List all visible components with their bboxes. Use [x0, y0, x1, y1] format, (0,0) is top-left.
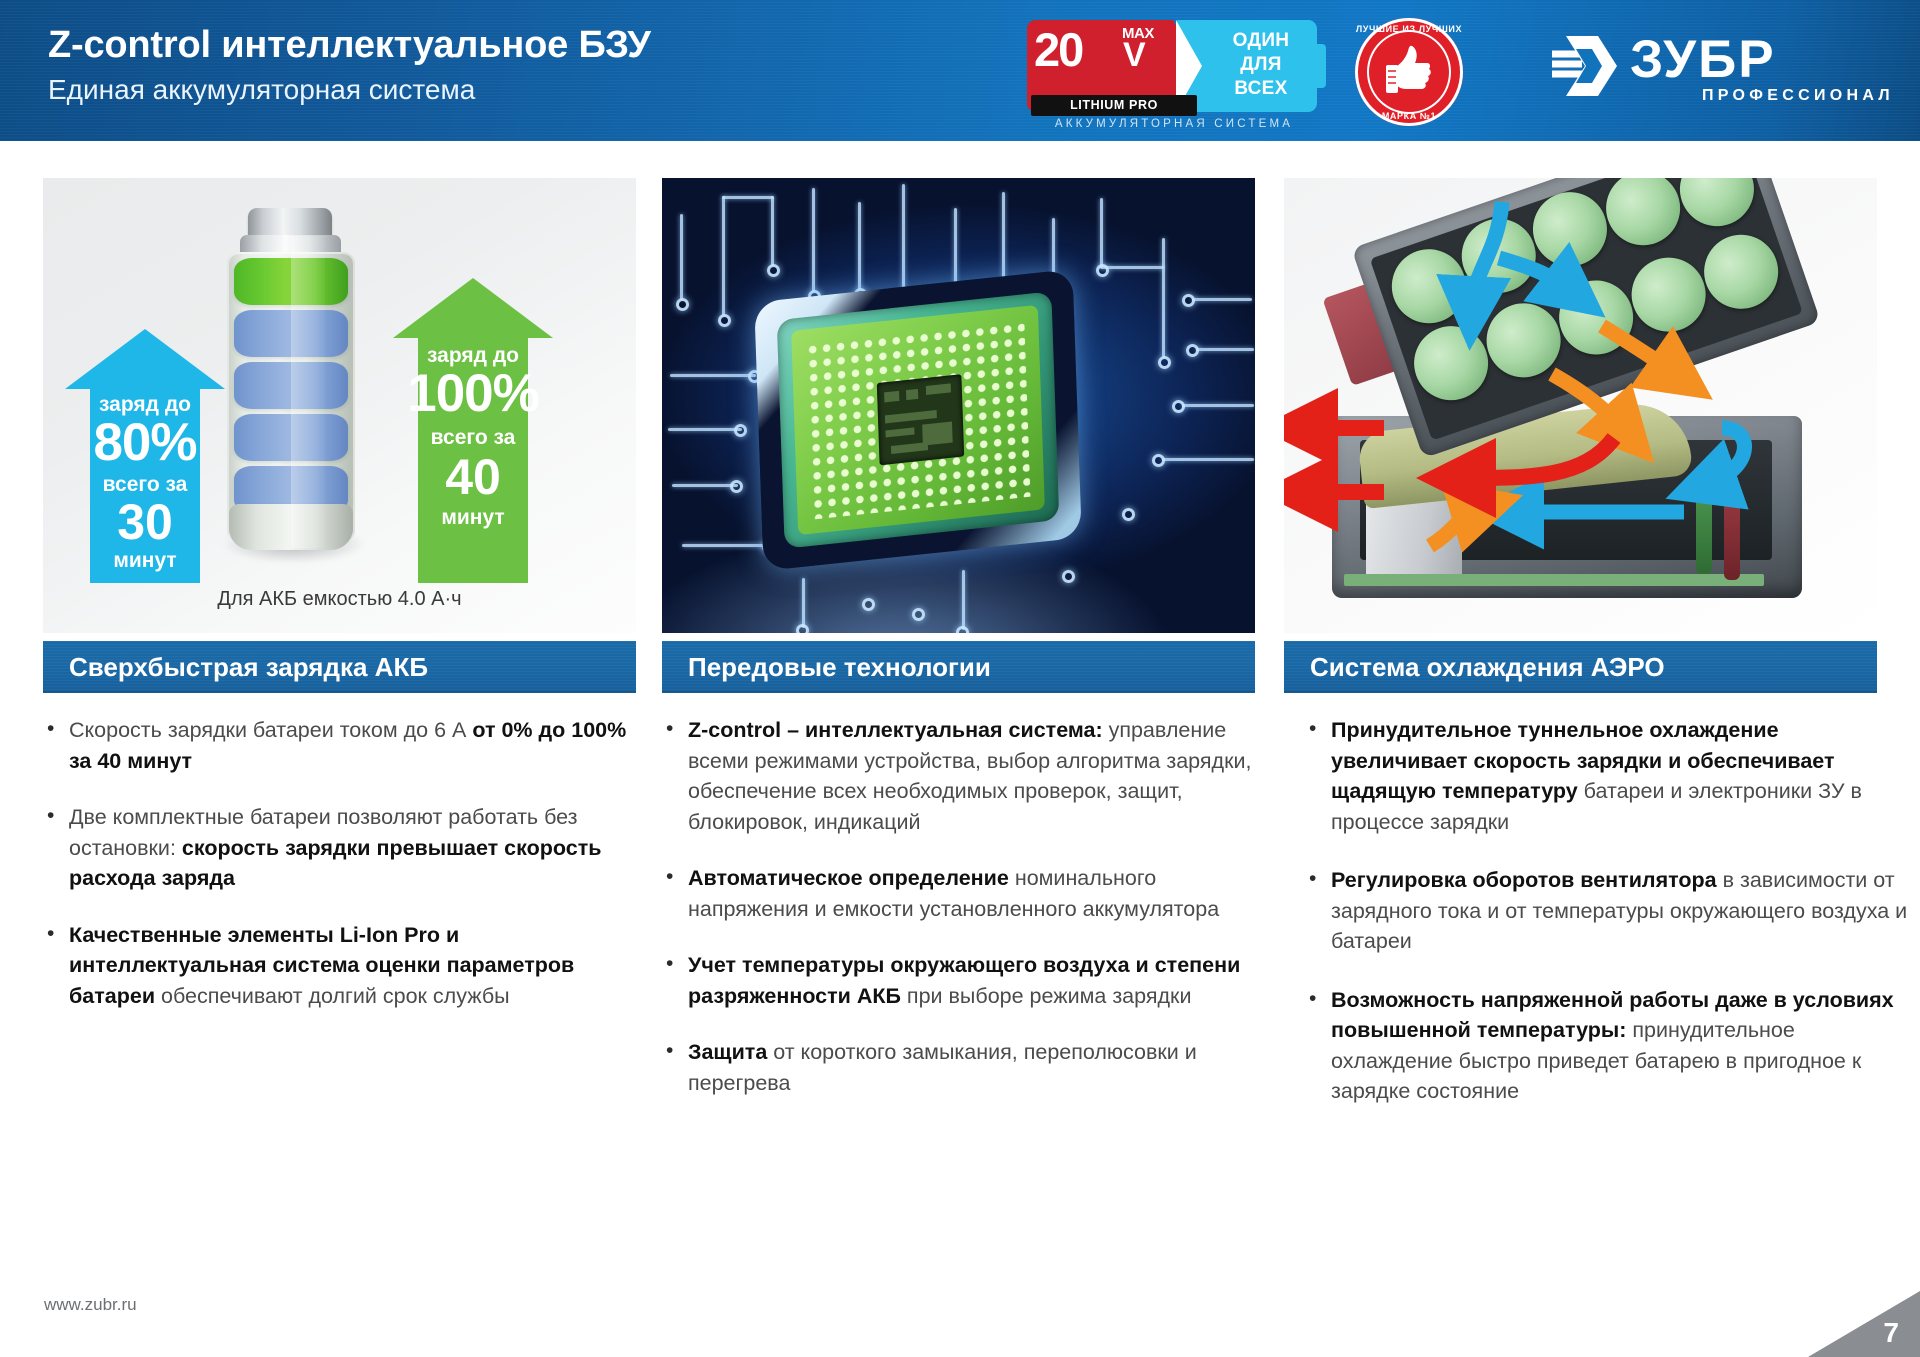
pcb-pad [1122, 508, 1135, 521]
page-number-corner: 7 [1808, 1291, 1920, 1357]
pcb-pad [1186, 344, 1199, 357]
zubr-brand-name: ЗУБР [1630, 31, 1776, 89]
pcb-pad [1172, 400, 1185, 413]
pcb-trace [1162, 238, 1165, 358]
feature-bullet: Качественные элементы Li-Ion Pro и интел… [43, 920, 639, 1012]
battery-base [229, 504, 353, 550]
one-for-all-line-1: ОДИН [1207, 29, 1315, 53]
footer-website-url[interactable]: www.zubr.ru [44, 1295, 137, 1315]
pcb-trace [858, 202, 861, 290]
pcb-pad [718, 314, 731, 327]
arrow-100-line3: всего за [393, 424, 553, 451]
section-bar-fast-charging: Сверхбыстрая зарядка АКБ [43, 641, 636, 693]
best-of-best-seal: ЛУЧШИЕ ИЗ ЛУЧШИХ МАРКА №1 [1355, 18, 1463, 126]
bullet-text-bold: Автоматическое определение [688, 866, 1009, 890]
bullet-text: при выборе режима зарядки [901, 984, 1192, 1008]
badge-volt-label: V [1123, 38, 1146, 72]
arrow-100-minutes: 40 [393, 450, 553, 504]
section-bar-technologies: Передовые технологии [662, 641, 1255, 693]
page-number: 7 [1883, 1319, 1899, 1347]
pcb-pad [1096, 264, 1109, 277]
battery-illustration [211, 208, 371, 583]
section-title-3: Система охлаждения АЭРО [1310, 641, 1665, 693]
bullet-text-bold: Z-control – интеллектуальная система: [688, 718, 1103, 742]
badge-voltage-number: 20 [1034, 24, 1082, 76]
pcb-pad [767, 264, 780, 277]
feature-columns: Скорость зарядки батареи током до 6 А от… [43, 715, 1877, 1275]
thumbs-up-icon [1386, 45, 1432, 99]
one-for-all-line-2: ДЛЯ [1207, 53, 1315, 77]
pcb-trace [668, 428, 742, 431]
battery-segment [234, 414, 348, 461]
pcb-pad [1062, 570, 1075, 583]
pcb-trace [812, 188, 815, 292]
page-subtitle: Единая аккумуляторная система [48, 72, 651, 108]
pcb-pad [862, 598, 875, 611]
zubr-arrow-mark-icon [1552, 35, 1618, 97]
feature-bullet: Автоматическое определение номинального … [662, 863, 1280, 924]
chip-die [791, 305, 1045, 535]
pcb-trace [1100, 198, 1103, 268]
arrow-100-line5: минут [393, 504, 553, 532]
chip-technology-panel [662, 178, 1255, 633]
badge-one-for-all-text: ОДИН ДЛЯ ВСЕХ [1207, 29, 1315, 101]
badge-system-caption: АККУМУЛЯТОРНАЯ СИСТЕМА [1031, 118, 1317, 130]
badge-cyan-block: ОДИН ДЛЯ ВСЕХ [1177, 20, 1317, 112]
pcb-trace [962, 570, 965, 630]
feature-bullet: Две комплектные батареи позволяют работа… [43, 802, 639, 894]
chip-substrate [777, 291, 1059, 548]
arrow-100-value: 100% [393, 366, 553, 422]
pcb-trace [722, 196, 774, 199]
section-bar-aero-cooling: Система охлаждения АЭРО [1284, 641, 1877, 693]
pcb-trace [1162, 458, 1254, 461]
page-header: Z-control интеллектуальное БЗУ Единая ак… [0, 0, 1920, 141]
pcb-trace [802, 578, 805, 628]
feature-bullet: Z-control – интеллектуальная система: уп… [662, 715, 1280, 837]
bullet-text-bold: Возможность напряженной работы даже в ус… [1331, 988, 1894, 1043]
battery-segment-charged [234, 258, 348, 305]
bullet-text: Скорость зарядки батареи током до 6 А [69, 718, 472, 742]
pcb-trace [1196, 348, 1254, 351]
zubr-logo: ЗУБР ПРОФЕССИОНАЛ [1552, 33, 1882, 111]
battery-body [227, 252, 355, 542]
bullet-text: обеспечивают долгий срок службы [155, 984, 510, 1008]
arrow-80-value: 80% [65, 415, 225, 471]
arrow-80-minutes: 30 [65, 495, 225, 549]
airflow-arrow-icons [1284, 178, 1877, 633]
seal-bottom-text: МАРКА №1 [1355, 111, 1463, 121]
badge-lithium-bar: LITHIUM PRO [1031, 95, 1197, 116]
pcb-pad [1158, 356, 1171, 369]
corner-triangle [1808, 1291, 1920, 1357]
arrow-80-line5: минут [65, 547, 225, 575]
pcb-pad [676, 298, 689, 311]
pcb-pad [730, 480, 743, 493]
pcb-trace [682, 544, 770, 547]
column-aero-cooling: Принудительное туннельное охлаждение уве… [1305, 715, 1920, 1135]
pcb-trace [771, 196, 774, 266]
feature-bullet: Регулировка оборотов вентилятора в завис… [1305, 865, 1920, 957]
pcb-pad [1182, 294, 1195, 307]
section-title-bars: Сверхбыстрая зарядка АКБ Передовые техно… [43, 641, 1877, 693]
bullet-text-bold: Регулировка оборотов вентилятора [1331, 868, 1717, 892]
battery-segment [234, 362, 348, 409]
zubr-tagline: ПРОФЕССИОНАЛ [1702, 87, 1894, 105]
seal-top-text: ЛУЧШИЕ ИЗ ЛУЧШИХ [1355, 24, 1463, 34]
section-title-2: Передовые технологии [688, 641, 991, 693]
arrow-charge-80: заряд до 80% всего за 30 минут [65, 329, 225, 583]
column-fast-charging: Скорость зарядки батареи током до 6 А от… [43, 715, 639, 1037]
pcb-trace [902, 184, 905, 302]
feature-bullet: Учет температуры окружающего воздуха и с… [662, 950, 1280, 1011]
pcb-pad [796, 624, 809, 633]
feature-bullet: Защита от короткого замыкания, переполюс… [662, 1037, 1280, 1098]
airflow-arrows [1284, 178, 1877, 633]
pcb-trace [1182, 404, 1254, 407]
slide-page: Z-control интеллектуальное БЗУ Единая ак… [0, 0, 1920, 1357]
header-titles: Z-control интеллектуальное БЗУ Единая ак… [48, 22, 651, 108]
battery-charge-panel: заряд до 80% всего за 30 минут заряд до … [43, 178, 636, 633]
image-panels: заряд до 80% всего за 30 минут заряд до … [43, 178, 1877, 633]
feature-bullet: Принудительное туннельное охлаждение уве… [1305, 715, 1920, 837]
feature-bullet: Возможность напряженной работы даже в ус… [1305, 985, 1920, 1107]
feature-bullet: Скорость зарядки батареи током до 6 А от… [43, 715, 639, 776]
page-title: Z-control интеллектуальное БЗУ [48, 22, 651, 68]
aero-cooling-panel [1284, 178, 1877, 633]
pcb-pad [734, 424, 747, 437]
pcb-pad [956, 626, 969, 633]
pcb-trace [680, 214, 683, 300]
arrow-head-icon [393, 278, 553, 338]
arrow-charge-100: заряд до 100% всего за 40 минут [393, 278, 553, 583]
pcb-trace [1192, 298, 1252, 301]
pcb-pad [1152, 454, 1165, 467]
pcb-trace [670, 374, 756, 377]
pcb-trace [722, 196, 725, 316]
one-for-all-line-3: ВСЕХ [1207, 77, 1315, 101]
badge-lithium-label: LITHIUM PRO [1031, 95, 1197, 116]
battery-segment [234, 310, 348, 357]
badge-20v-lithium-pro: 20 MAX V ОДИН ДЛЯ ВСЕХ LITHIUM PRO АККУМ… [1027, 20, 1317, 120]
column-technologies: Z-control – интеллектуальная система: уп… [662, 715, 1280, 1124]
charger-cutaway-illustration [1284, 178, 1877, 633]
chip-core [877, 374, 964, 465]
pcb-trace [672, 484, 738, 487]
cpu-chip [754, 269, 1082, 571]
battery-capacity-caption: Для АКБ емкостью 4.0 А·ч [43, 588, 636, 611]
section-title-1: Сверхбыстрая зарядка АКБ [69, 641, 428, 693]
bullet-text-bold: Защита [688, 1040, 767, 1064]
pcb-trace [1100, 266, 1164, 269]
arrow-head-icon [65, 329, 225, 389]
pcb-pad [912, 608, 925, 621]
